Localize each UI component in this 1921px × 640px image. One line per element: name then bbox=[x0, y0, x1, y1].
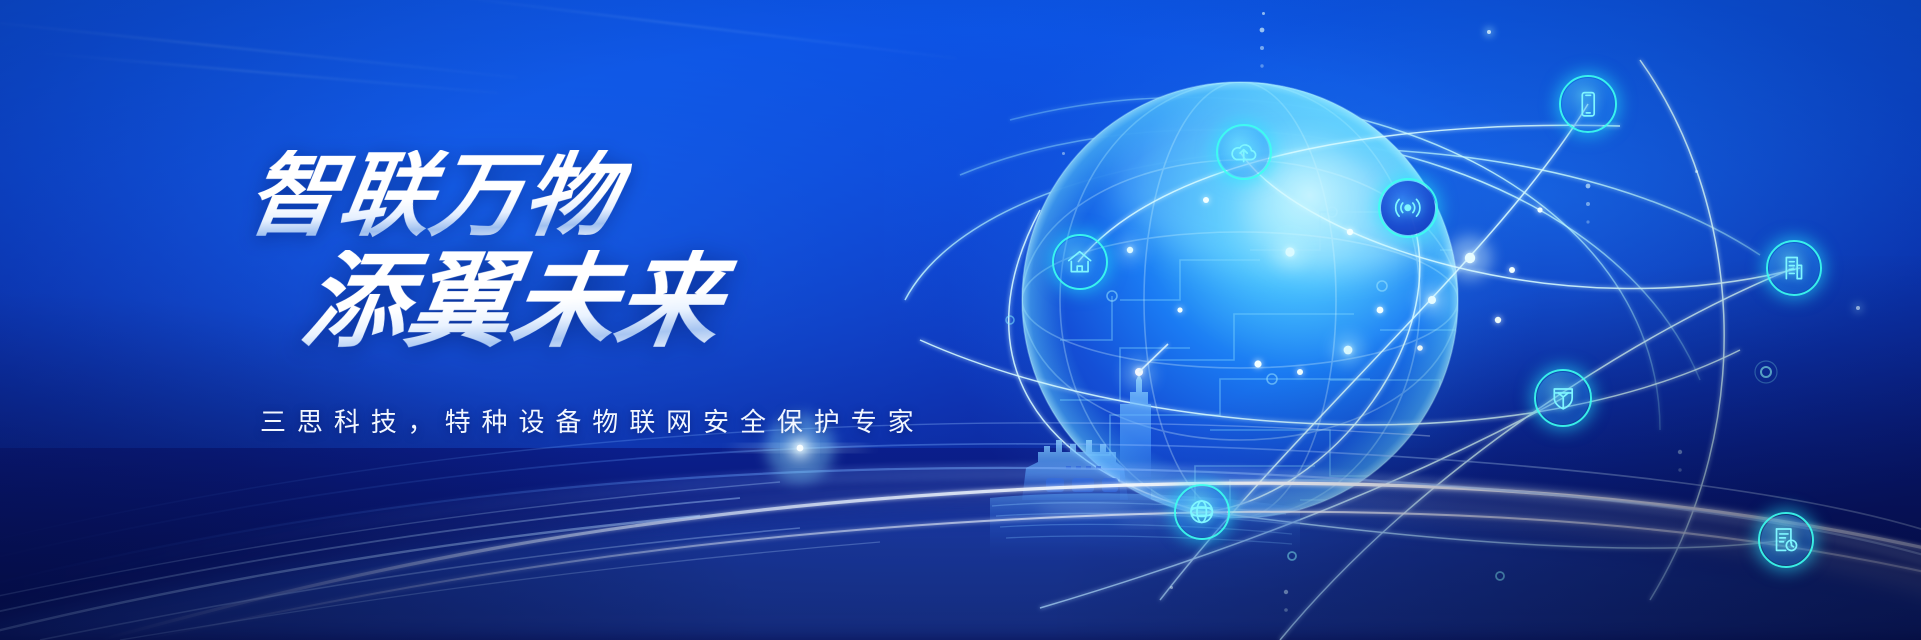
headline-line-2: 添翼未来 bbox=[296, 250, 741, 354]
node-building[interactable] bbox=[1766, 240, 1822, 296]
node-cloud-upload[interactable] bbox=[1216, 124, 1272, 180]
node-smartphone[interactable] bbox=[1559, 75, 1617, 133]
node-shield[interactable] bbox=[1534, 369, 1592, 427]
node-signal[interactable] bbox=[1378, 178, 1438, 238]
signal-icon bbox=[1391, 191, 1425, 225]
headline-block: 智联万物 添翼未来 三思科技，特种设备物联网安全保护专家 bbox=[248, 150, 1008, 439]
shield-icon bbox=[1547, 382, 1579, 414]
smartphone-icon bbox=[1572, 88, 1604, 120]
node-home[interactable] bbox=[1052, 234, 1108, 290]
headline-line-1: 智联万物 bbox=[241, 150, 634, 242]
globe-network-icon bbox=[1186, 496, 1217, 527]
home-icon bbox=[1064, 246, 1095, 277]
banner-subtitle: 三思科技，特种设备物联网安全保护专家 bbox=[260, 402, 1008, 439]
report-icon bbox=[1770, 524, 1801, 555]
cloud-upload-icon bbox=[1228, 136, 1259, 167]
building-icon bbox=[1778, 252, 1809, 283]
node-globe-network[interactable] bbox=[1174, 484, 1230, 540]
node-report[interactable] bbox=[1758, 512, 1814, 568]
hero-banner: 智联万物 添翼未来 三思科技，特种设备物联网安全保护专家 bbox=[0, 0, 1921, 640]
